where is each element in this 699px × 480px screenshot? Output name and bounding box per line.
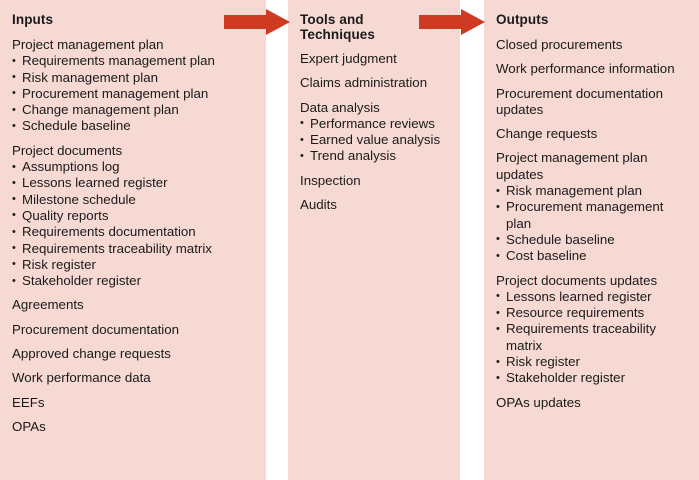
item-heading: Approved change requests [12,346,256,362]
gap-inputs-tools [266,0,288,480]
item-heading: Agreements [12,297,256,313]
list-item: Milestone schedule [12,192,256,208]
item-group: EEFs [12,395,256,411]
panel-title-tools-line2: Techniques [300,27,450,42]
item-heading: Claims administration [300,75,450,91]
list-item: Cost baseline [496,248,689,264]
item-group: Procurement documentation updates [496,86,689,119]
item-heading: Project documents [12,143,256,159]
item-group: OPAs updates [496,395,689,411]
bullet-list: Risk management planProcurement manageme… [496,183,689,264]
item-group: Approved change requests [12,346,256,362]
list-item: Stakeholder register [12,273,256,289]
list-item: Risk register [496,354,689,370]
item-heading: OPAs [12,419,256,435]
item-heading: Work performance information [496,61,689,77]
list-item: Performance reviews [300,116,450,132]
itto-diagram: Inputs Project management planRequiremen… [0,0,699,480]
list-item: Resource requirements [496,305,689,321]
item-heading: Work performance data [12,370,256,386]
panel-inputs: Inputs Project management planRequiremen… [0,0,266,480]
panel-tools-and-techniques: Tools and Techniques Expert judgmentClai… [288,0,460,480]
item-heading: Audits [300,197,450,213]
item-heading: Project documents updates [496,273,689,289]
list-item: Risk management plan [12,70,256,86]
list-item: Requirements traceability matrix [496,321,689,354]
item-heading: EEFs [12,395,256,411]
list-item: Requirements documentation [12,224,256,240]
panel-outputs: Outputs Closed procurementsWork performa… [484,0,699,480]
item-group: Project management planRequirements mana… [12,37,256,135]
item-heading: Procurement documentation updates [496,86,689,119]
item-group: Claims administration [300,75,450,91]
gap-tools-outputs [460,0,484,480]
item-group: Agreements [12,297,256,313]
bullet-list: Assumptions logLessons learned registerM… [12,159,256,289]
item-group: Change requests [496,126,689,142]
item-group: Project management plan updatesRisk mana… [496,150,689,264]
inputs-group-list: Project management planRequirements mana… [12,37,256,435]
list-item: Risk management plan [496,183,689,199]
item-heading: Change requests [496,126,689,142]
item-group: Project documents updatesLessons learned… [496,273,689,387]
item-group: Project documentsAssumptions logLessons … [12,143,256,290]
item-heading: OPAs updates [496,395,689,411]
list-item: Procurement management plan [12,86,256,102]
item-group: Work performance information [496,61,689,77]
list-item: Lessons learned register [496,289,689,305]
outputs-group-list: Closed procurementsWork performance info… [496,37,689,411]
list-item: Lessons learned register [12,175,256,191]
item-group: Closed procurements [496,37,689,53]
list-item: Trend analysis [300,148,450,164]
panel-title-inputs: Inputs [12,12,256,27]
panel-title-tools-line1: Tools and [300,12,450,27]
item-heading: Procurement documentation [12,322,256,338]
item-group: Work performance data [12,370,256,386]
item-heading: Closed procurements [496,37,689,53]
list-item: Schedule baseline [496,232,689,248]
list-item: Assumptions log [12,159,256,175]
tools-group-list: Expert judgmentClaims administrationData… [300,51,450,213]
list-item: Requirements management plan [12,53,256,69]
item-group: Audits [300,197,450,213]
list-item: Risk register [12,257,256,273]
bullet-list: Requirements management planRisk managem… [12,53,256,134]
list-item: Stakeholder register [496,370,689,386]
item-group: Data analysisPerformance reviewsEarned v… [300,100,450,165]
item-group: Procurement documentation [12,322,256,338]
item-heading: Data analysis [300,100,450,116]
item-group: Expert judgment [300,51,450,67]
list-item: Procurement management plan [496,199,689,232]
item-heading: Expert judgment [300,51,450,67]
panel-title-outputs: Outputs [496,12,689,27]
list-item: Change management plan [12,102,256,118]
item-group: Inspection [300,173,450,189]
list-item: Quality reports [12,208,256,224]
item-heading: Project management plan updates [496,150,689,183]
item-group: OPAs [12,419,256,435]
panel-title-tools: Tools and Techniques [300,12,450,42]
list-item: Requirements traceability matrix [12,241,256,257]
bullet-list: Lessons learned registerResource require… [496,289,689,387]
list-item: Schedule baseline [12,118,256,134]
list-item: Earned value analysis [300,132,450,148]
item-heading: Project management plan [12,37,256,53]
bullet-list: Performance reviewsEarned value analysis… [300,116,450,165]
item-heading: Inspection [300,173,450,189]
